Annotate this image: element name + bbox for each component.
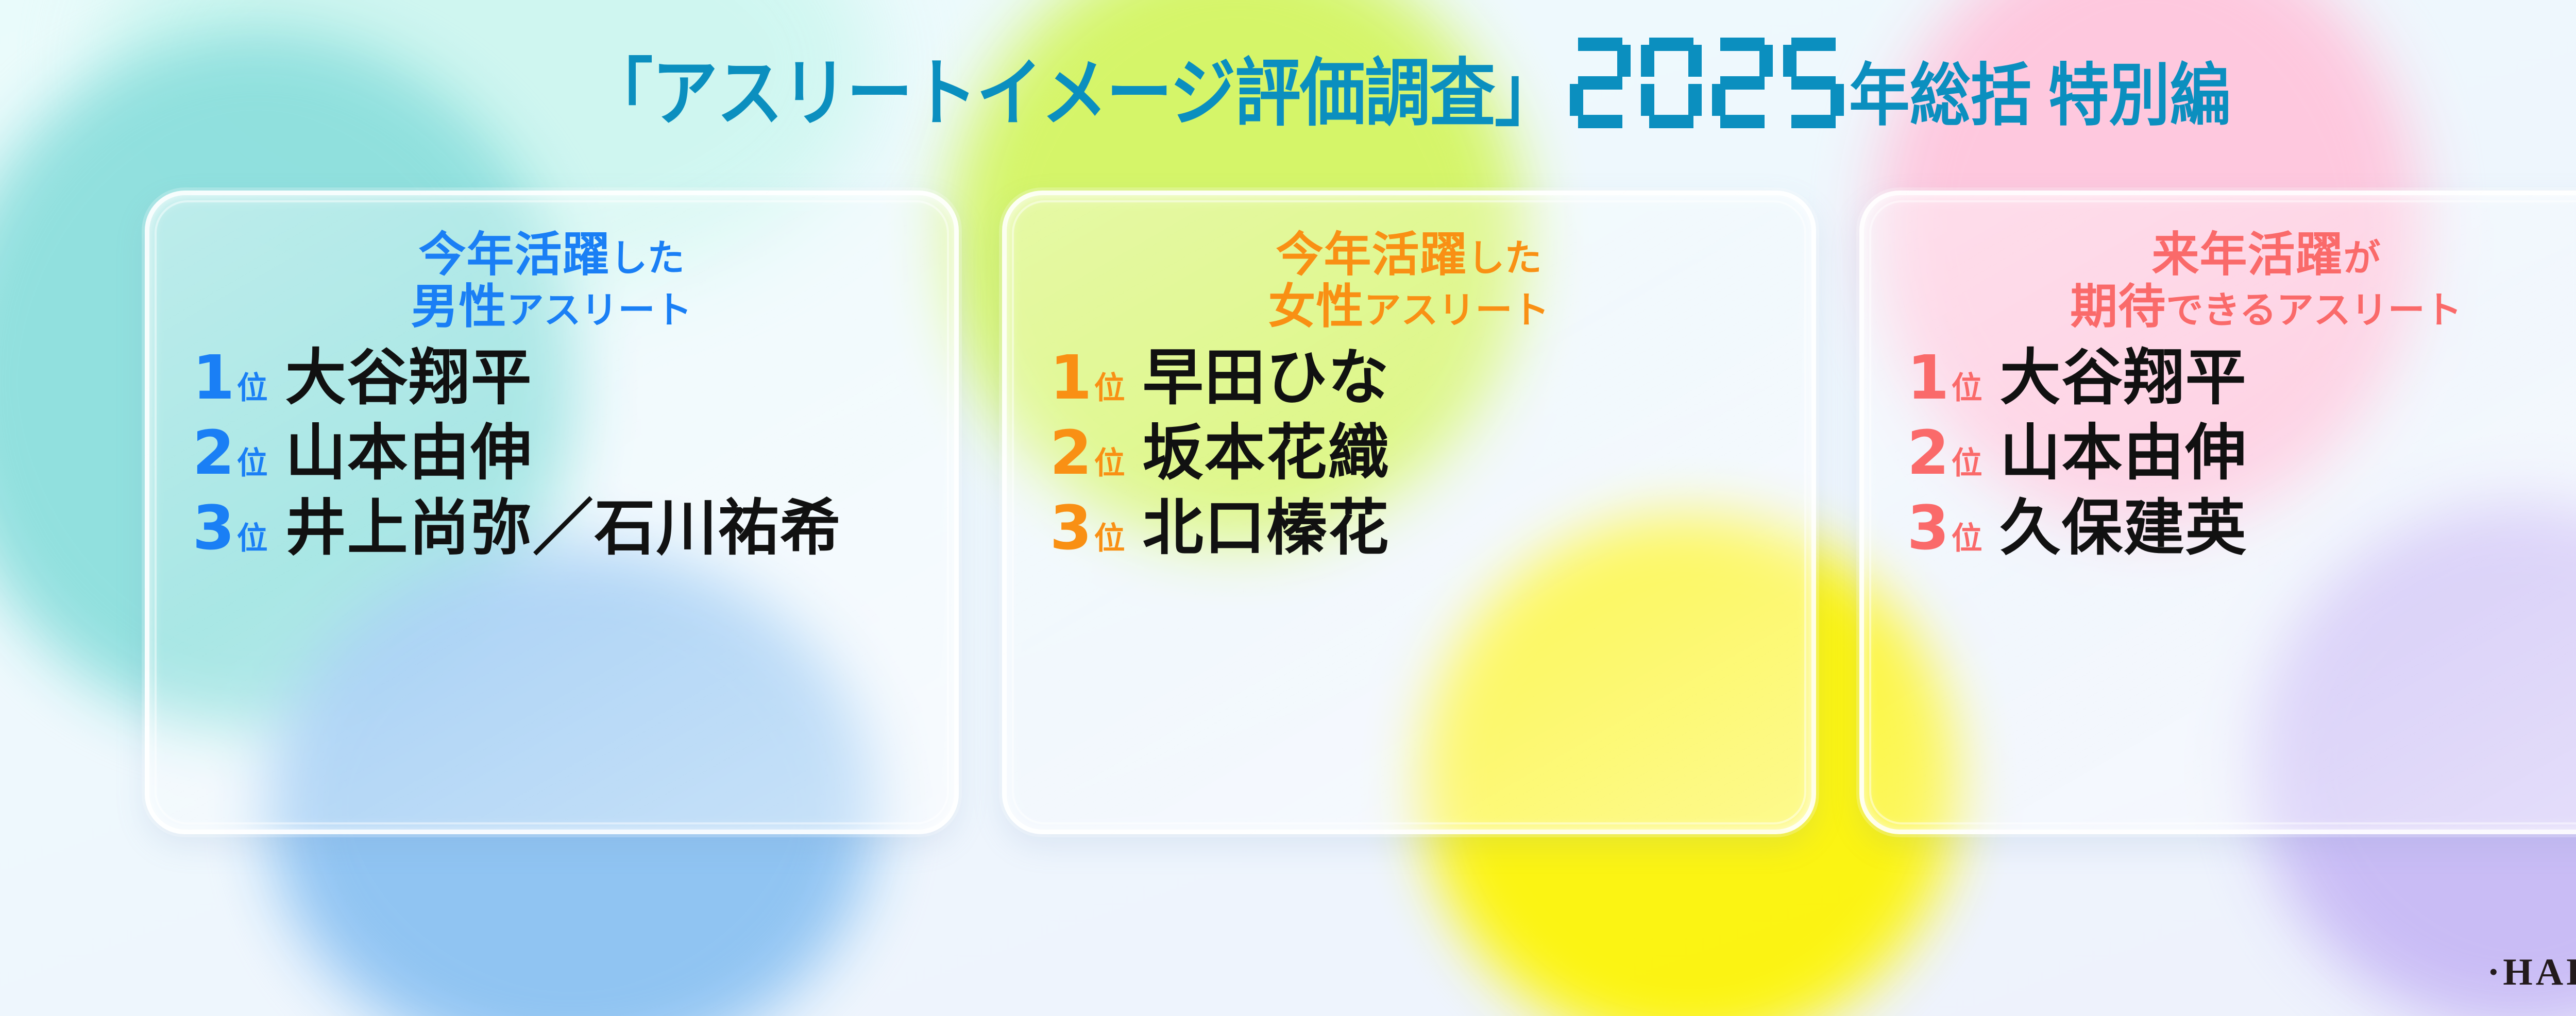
rank-unit-label: 位 bbox=[1094, 438, 1125, 483]
athlete-name: 山本由伸 bbox=[2000, 422, 2247, 486]
seven-segment-digit bbox=[1712, 38, 1773, 128]
card-heading-line1-suffix: が bbox=[2343, 238, 2380, 279]
rank-unit-label: 位 bbox=[1094, 513, 1125, 558]
card-heading-line2-emphasis: 女性 bbox=[1268, 281, 1364, 333]
seven-segment-digit bbox=[1570, 38, 1631, 128]
rank-number: 3 bbox=[193, 497, 235, 558]
card-heading-line1-emphasis: 来年活躍 bbox=[2151, 229, 2343, 281]
rank-number: 2 bbox=[1050, 422, 1092, 483]
rank-number: 1 bbox=[1050, 347, 1092, 408]
card-heading-line2-suffix: アスリート bbox=[507, 290, 692, 331]
athlete-name: 早田ひな bbox=[1143, 347, 1390, 410]
rank-number: 1 bbox=[1907, 347, 1950, 408]
card-heading-line2-emphasis: 男性 bbox=[411, 281, 506, 333]
page-title: 「アスリートイメージ評価調査」 年総括 特別編 bbox=[587, 30, 2230, 140]
rank-unit-label: 位 bbox=[1952, 513, 1982, 558]
rank-row: 1位大谷翔平 bbox=[1907, 347, 2576, 410]
athlete-name: 坂本花織 bbox=[1143, 422, 1390, 486]
athlete-name: 山本由伸 bbox=[285, 422, 533, 486]
seven-segment-digit bbox=[1783, 38, 1844, 128]
rank-list: 1位大谷翔平2位山本由伸3位久保建英 bbox=[1894, 347, 2576, 561]
ranking-card: 今年活躍した男性アスリート1位大谷翔平2位山本由伸3位井上尚弥／石川祐希 bbox=[145, 191, 959, 834]
rank-unit-label: 位 bbox=[1952, 363, 1982, 408]
seven-segment-digit bbox=[1641, 38, 1702, 128]
ranking-card-list: 今年活躍した男性アスリート1位大谷翔平2位山本由伸3位井上尚弥／石川祐希今年活躍… bbox=[0, 191, 2576, 834]
card-heading-line2-suffix: できるアスリート bbox=[2166, 290, 2462, 331]
title-main-text: 「アスリートイメージ評価調査」 bbox=[587, 33, 1559, 140]
card-heading-line1-emphasis: 今年活躍 bbox=[418, 229, 610, 281]
rank-row: 2位山本由伸 bbox=[1907, 422, 2576, 486]
rank-row: 3位井上尚弥／石川祐希 bbox=[193, 497, 924, 561]
athlete-name: 久保建英 bbox=[2000, 497, 2247, 561]
rank-unit-label: 位 bbox=[1952, 438, 1982, 483]
rank-row: 2位坂本花織 bbox=[1050, 422, 1782, 486]
rank-row: 2位山本由伸 bbox=[193, 422, 924, 486]
card-heading: 今年活躍した女性アスリート bbox=[1268, 229, 1549, 333]
ranking-card: 今年活躍した女性アスリート1位早田ひな2位坂本花織3位北口榛花 bbox=[1002, 191, 1816, 834]
rank-list: 1位大谷翔平2位山本由伸3位井上尚弥／石川祐希 bbox=[179, 347, 924, 561]
rank-number: 2 bbox=[193, 422, 235, 483]
athlete-name: 井上尚弥／石川祐希 bbox=[285, 497, 842, 561]
rank-number: 2 bbox=[1907, 422, 1950, 483]
rank-number: 3 bbox=[1907, 497, 1950, 558]
year-seven-segment-display bbox=[1570, 38, 1844, 128]
rank-row: 1位大谷翔平 bbox=[193, 347, 924, 410]
rank-unit-label: 位 bbox=[1094, 363, 1125, 408]
rank-row: 1位早田ひな bbox=[1050, 347, 1782, 410]
rank-unit-label: 位 bbox=[237, 438, 268, 483]
hakuhodo-logo: ·HAKUHODO· bbox=[2487, 951, 2576, 994]
title-suffix-text: 年総括 特別編 bbox=[1849, 40, 2231, 139]
card-heading: 今年活躍した男性アスリート bbox=[411, 229, 692, 333]
athlete-name: 北口榛花 bbox=[1143, 497, 1390, 561]
rank-row: 3位北口榛花 bbox=[1050, 497, 1782, 561]
athlete-name: 大谷翔平 bbox=[285, 347, 533, 410]
card-heading: 来年活躍が期待できるアスリート bbox=[2070, 229, 2462, 333]
page-header: 「アスリートイメージ評価調査」 年総括 特別編 bbox=[0, 0, 2576, 170]
card-heading-line1-suffix: した bbox=[611, 238, 685, 279]
rank-number: 3 bbox=[1050, 497, 1092, 558]
rank-unit-label: 位 bbox=[237, 363, 268, 408]
card-heading-line1-emphasis: 今年活躍 bbox=[1276, 229, 1467, 281]
rank-unit-label: 位 bbox=[237, 513, 268, 558]
rank-number: 1 bbox=[193, 347, 235, 408]
rank-list: 1位早田ひな2位坂本花織3位北口榛花 bbox=[1037, 347, 1782, 561]
card-heading-line1-suffix: した bbox=[1468, 238, 1542, 279]
athlete-name: 大谷翔平 bbox=[2000, 347, 2247, 410]
card-heading-line2-suffix: アスリート bbox=[1364, 290, 1550, 331]
ranking-card: 来年活躍が期待できるアスリート1位大谷翔平2位山本由伸3位久保建英 bbox=[1859, 191, 2576, 834]
rank-row: 3位久保建英 bbox=[1907, 497, 2576, 561]
card-heading-line2-emphasis: 期待 bbox=[2070, 281, 2166, 333]
